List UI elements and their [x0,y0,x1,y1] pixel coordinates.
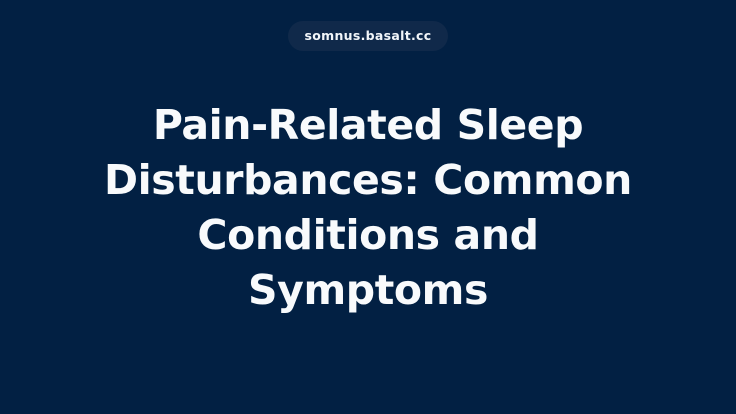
site-domain-badge: somnus.basalt.cc [288,21,449,51]
title-block: Pain-Related Sleep Disturbances: Common … [58,98,678,318]
page-title: Pain-Related Sleep Disturbances: Common … [58,98,678,318]
hero-banner: somnus.basalt.cc Pain-Related Sleep Dist… [0,0,736,414]
site-domain-label: somnus.basalt.cc [305,30,432,43]
